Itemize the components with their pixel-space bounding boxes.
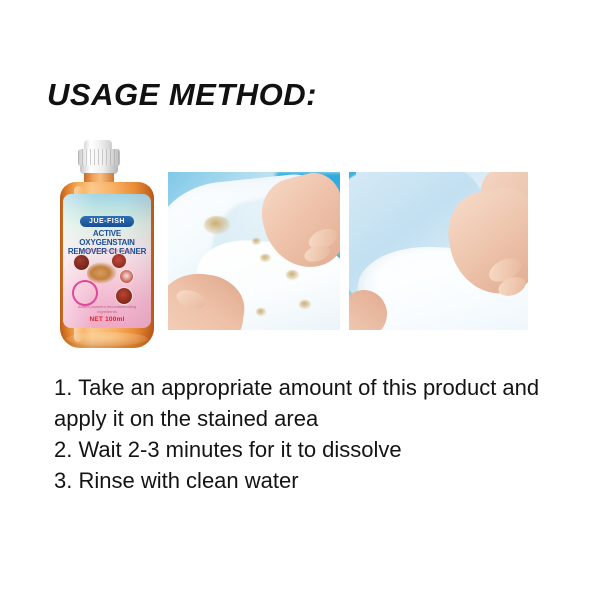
product-title-line1: ACTIVE OXYGENSTAIN xyxy=(67,229,147,247)
photo1-stain-5 xyxy=(299,300,311,309)
usage-step-line-1: 1. Take an appropriate amount of this pr… xyxy=(54,372,554,403)
brand-name: JUE-FISH xyxy=(80,216,134,227)
photo1-stain-4 xyxy=(286,270,299,280)
usage-step-line-4: 3. Rinse with clean water xyxy=(54,465,554,496)
stain-sample-icon-3 xyxy=(119,269,134,284)
photo-clean-cloth xyxy=(349,172,528,330)
stain-sample-icon-4 xyxy=(115,287,133,305)
bottle-cap-ribs-icon xyxy=(78,149,120,166)
product-bottle-image: JUE-FISH ACTIVE OXYGENSTAIN REMOVER CLEA… xyxy=(58,140,158,350)
bottle-label: JUE-FISH ACTIVE OXYGENSTAIN REMOVER CLEA… xyxy=(63,194,151,328)
net-content-label: NET 100ml xyxy=(77,316,137,323)
photo1-stain-3 xyxy=(260,254,271,262)
photo-stained-cloth xyxy=(168,172,340,330)
label-small-text: Added powerful decontaminating ingredien… xyxy=(77,304,137,314)
usage-step-line-3: 2. Wait 2-3 minutes for it to dissolve xyxy=(54,434,554,465)
photo1-stain-6 xyxy=(256,308,266,316)
photo1-stain-1 xyxy=(204,216,230,234)
photo1-stain-2 xyxy=(252,238,261,245)
bottle-body: JUE-FISH ACTIVE OXYGENSTAIN REMOVER CLEA… xyxy=(60,182,154,348)
usage-method-infographic: { "page": { "title": "USAGE METHOD:", "b… xyxy=(0,0,600,600)
page-title: USAGE METHOD: xyxy=(47,77,317,113)
bottle-base-shine xyxy=(66,332,148,346)
usage-steps-list: 1. Take an appropriate amount of this pr… xyxy=(54,372,554,496)
product-subtitle: Powerful decontamination xyxy=(69,248,145,253)
pink-ring-icon xyxy=(72,280,98,306)
usage-step-line-2: apply it on the stained area xyxy=(54,403,554,434)
